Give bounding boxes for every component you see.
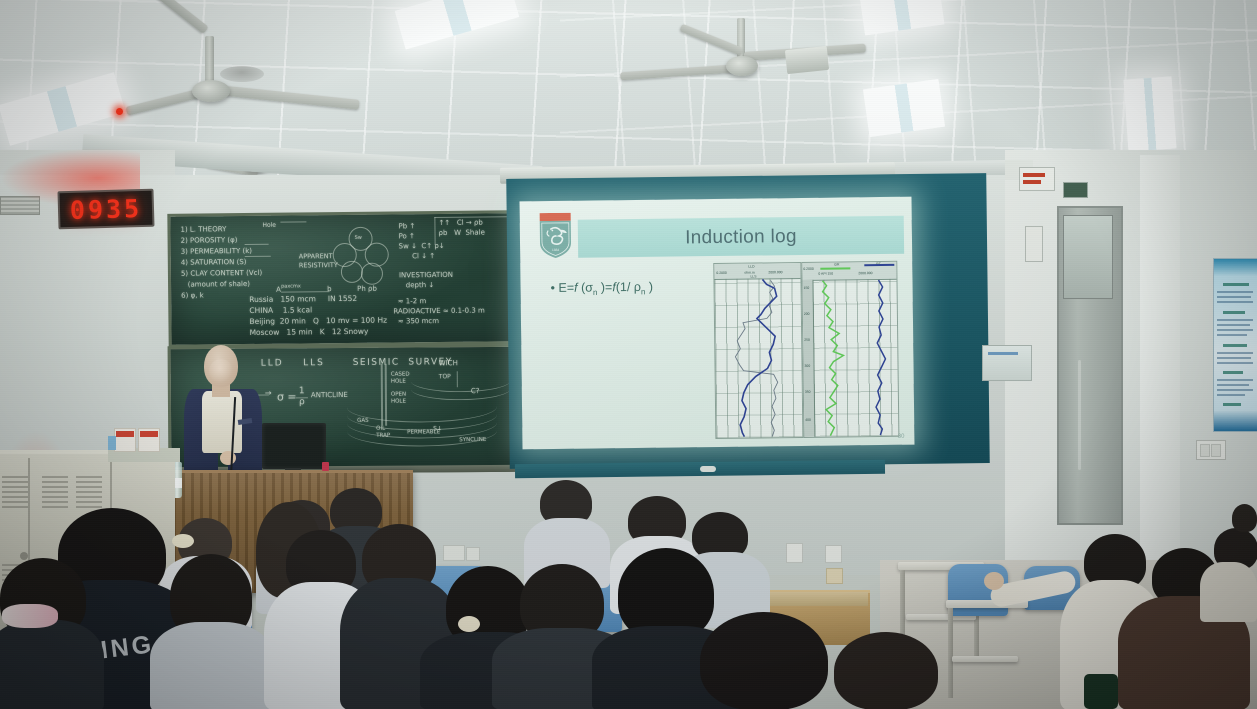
light-switch-panel[interactable] [1196,440,1226,460]
log-panel-resistivity: LLD 0.2000 ohm.m 2000.000 LLS [713,262,803,439]
log-curves-porosity [812,279,898,437]
log-curves-resistivity [714,278,802,438]
lecturer-shirt [202,391,242,453]
curve-gr [822,280,844,435]
log-hdr-gr: GR [834,263,839,267]
svg-text:1884: 1884 [552,248,559,252]
exit-sign [1063,182,1088,198]
formula-arg2: (1/ ρ [616,280,641,294]
clock-time: 0935 [69,193,142,224]
log-hdr-max2: 2000.000 [858,271,872,275]
formula-lhs: E= [558,281,574,295]
lecturer-face [209,359,233,383]
log-hdr-api: 0 API 150 [818,272,833,276]
locker-vent-2 [42,474,68,508]
presentation-slide: 1884 Induction log • E=f (σn )=f(1/ ρn )… [519,197,914,450]
depth-tick-200: 200 [804,312,810,316]
depth-tick-250: 250 [804,338,810,342]
wall-sign-small [443,545,465,561]
ceiling-projector [785,46,829,74]
screen-rail-clip [700,466,716,472]
wall-outlet-1[interactable] [786,543,803,563]
chalk-box-red-2 [138,428,160,452]
hair-tie [172,534,194,548]
intercom-unit[interactable] [1025,226,1043,262]
formula-arg1-close: )= [597,280,612,294]
pink-scarf [2,604,58,628]
university-crest-logo: 1884 [538,213,574,258]
formula-arg2-close: ) [645,280,653,294]
light-panel-5 [1124,76,1177,151]
indicator-led [116,108,123,115]
wall-led-clock: 0935 [57,189,154,230]
pointing-hand [984,572,1004,590]
well-log-chart: LLD 0.2000 ohm.m 2000.000 LLS GR RT 0 AP… [713,261,897,437]
wall-outlet-beige[interactable] [826,568,843,584]
locker-handle [20,552,28,560]
log-hdr-label-min: 0.2000 [716,271,726,275]
log-hdr-min2: 0.2000 [803,267,813,271]
marker-pen [322,462,329,471]
locker-vent-1 [2,474,28,508]
door-handle[interactable] [1078,360,1081,470]
wall-sign-small-2 [466,547,480,561]
chalk-box-blue [108,436,116,450]
dell-monitor [262,423,326,469]
wall-poster-regulations [1213,258,1257,432]
door-window [1063,215,1113,299]
depth-tick-300: 300 [805,364,811,368]
smoke-detector [220,66,264,82]
lecturer-hand [220,451,236,465]
depth-tick-150: 150 [804,286,810,290]
log-hdr-label-max: 2000.000 [768,270,782,274]
curve-rt [874,280,886,435]
formula-arg1-open: (σ [577,281,593,295]
curve-lld [738,279,778,436]
chalk-box-red [114,428,136,452]
scrunchie [458,616,480,632]
locker-vent-3 [76,474,102,508]
wall-outlet-2[interactable] [825,545,842,563]
bullet-marker: • [550,281,555,295]
slide-bullet-formula: • E=f (σn )=f(1/ ρn ) [550,280,653,298]
backpack-item [1084,674,1118,709]
chalkboard-upper: 1) L. THEORY 2) POROSITY (φ) 3) PERMEABI… [167,210,519,348]
log-hdr-label-lld: LLD [748,265,754,269]
log-panel-porosity: GR RT 0 API 150 0.2000 2000.000 150 200 … [801,261,899,438]
alarm-control-panel[interactable] [1019,167,1055,191]
depth-tick-400: 400 [805,418,811,422]
slide-page-number: 30 [898,434,905,440]
wall-notice-box [982,345,1032,381]
slide-title: Induction log [578,218,904,258]
depth-tick-350: 350 [805,390,811,394]
lecture-hall-photo: 0935 1) L. THEORY 2) POROSITY (φ) 3) PER… [0,0,1257,709]
